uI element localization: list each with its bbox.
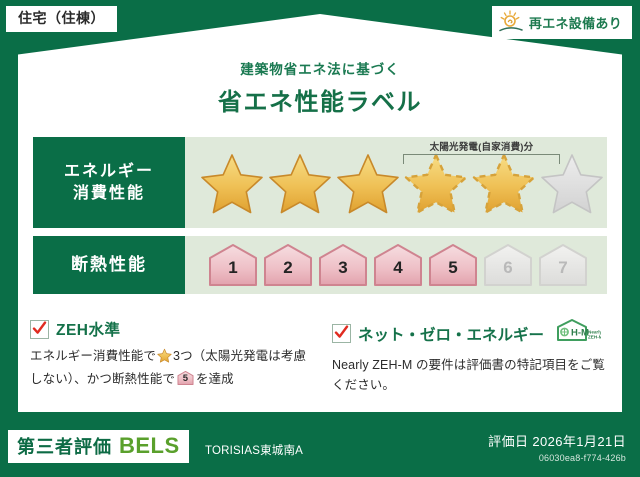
insulation-step-label-5: 5 — [427, 259, 479, 276]
star-filled-2 — [267, 151, 333, 215]
performance-rows: エネルギー 消費性能 太陽光発電(自家消費)分 — [33, 137, 607, 302]
energy-performance-row: エネルギー 消費性能 太陽光発電(自家消費)分 — [33, 137, 607, 228]
insulation-row-label: 断熱性能 — [33, 236, 185, 294]
insulation-step-7: 7 — [537, 242, 589, 288]
netzero-heading: ネット・ゼロ・エネルギー H-M Nearly ZEH-M — [332, 318, 610, 349]
house-inline-icon: 5 — [177, 370, 194, 386]
star-filled-solar-5 — [471, 151, 537, 215]
check-icon — [334, 325, 349, 340]
criteria-section: ZEH水準 エネルギー消費性能で3つ（太陽光発電は考慮しない）、かつ断熱性能で5… — [30, 318, 610, 396]
netzero-title: ネット・ゼロ・エネルギー — [358, 323, 544, 345]
star-filled-solar-4 — [403, 151, 469, 215]
star-filled-3 — [335, 151, 401, 215]
check-icon — [32, 321, 47, 336]
evaluation-info: 評価日 2026年1月21日 06030ea8-f774-426b — [488, 431, 626, 463]
insulation-step-label-6: 6 — [482, 259, 534, 276]
zeh-description: エネルギー消費性能で3つ（太陽光発電は考慮しない）、かつ断熱性能で5を達成 — [30, 346, 308, 390]
label-title: 省エネ性能ラベル — [0, 82, 640, 117]
house-inline-value: 5 — [177, 374, 194, 384]
energy-label-line1: エネルギー — [64, 161, 154, 183]
zeh-criteria-column: ZEH水準 エネルギー消費性能で3つ（太陽光発電は考慮しない）、かつ断熱性能で5… — [30, 318, 308, 396]
insulation-step-1: 1 — [207, 242, 259, 288]
bels-jp-label: 第三者評価 — [17, 433, 112, 459]
zeh-heading: ZEH水準 — [30, 318, 308, 340]
zeh-title: ZEH水準 — [56, 318, 121, 340]
building-type-text: 住宅（住棟） — [18, 10, 105, 26]
insulation-performance-row: 断熱性能 1 2 — [33, 236, 607, 294]
label-subtitle: 建築物省エネ法に基づく — [0, 58, 640, 78]
insulation-scale: 1 2 3 4 5 — [185, 242, 589, 288]
star-empty-6 — [539, 151, 605, 215]
insulation-label-text: 断熱性能 — [71, 254, 147, 277]
zeh-description-part1: エネルギー消費性能で — [30, 349, 156, 363]
svg-text:H-M: H-M — [571, 327, 589, 338]
insulation-step-label-7: 7 — [537, 259, 589, 276]
insulation-rating-panel: 1 2 3 4 5 — [185, 236, 607, 294]
renewable-badge-label: 再エネ設備あり — [529, 13, 622, 32]
bels-en-label: BELS — [119, 433, 180, 459]
zeh-checkbox — [30, 320, 49, 339]
insulation-step-5: 5 — [427, 242, 479, 288]
energy-star-rating — [185, 151, 605, 215]
building-type-chip: 住宅（住棟） — [6, 6, 117, 32]
netzero-criteria-column: ネット・ゼロ・エネルギー H-M Nearly ZEH-M Nearly ZEH… — [322, 318, 610, 396]
energy-row-label: エネルギー 消費性能 — [33, 137, 185, 228]
energy-rating-panel: 太陽光発電(自家消費)分 — [185, 137, 607, 228]
insulation-step-label-1: 1 — [207, 259, 259, 276]
netzero-description: Nearly ZEH-M の要件は評価書の特記項目をご覧ください。 — [332, 355, 610, 396]
label-title-block: 建築物省エネ法に基づく 省エネ性能ラベル — [0, 58, 640, 117]
sun-solar-icon — [498, 10, 524, 34]
insulation-step-2: 2 — [262, 242, 314, 288]
star-filled-1 — [199, 151, 265, 215]
evaluation-date: 評価日 2026年1月21日 — [488, 431, 626, 450]
netzero-checkbox — [332, 324, 351, 343]
zeh-m-logo-icon: H-M Nearly ZEH-M — [555, 318, 601, 349]
insulation-step-3: 3 — [317, 242, 369, 288]
insulation-step-6: 6 — [482, 242, 534, 288]
insulation-step-label-2: 2 — [262, 259, 314, 276]
zeh-description-part3: を達成 — [196, 372, 234, 386]
star-inline-icon — [157, 352, 172, 366]
insulation-step-label-4: 4 — [372, 259, 424, 276]
energy-label-line2: 消費性能 — [73, 183, 145, 205]
evaluation-uid: 06030ea8-f774-426b — [488, 453, 626, 463]
bels-badge: 第三者評価 BELS — [8, 430, 189, 463]
zeh-m-logo-sub2: ZEH-M — [588, 335, 601, 340]
renewable-equipment-badge: 再エネ設備あり — [492, 6, 632, 39]
energy-performance-label: 住宅（住棟） 再エネ設備あり 建築物省エネ法に基づく 省エネ性能ラベル — [0, 0, 640, 477]
label-footer: 第三者評価 BELS TORISIAS東城南A 評価日 2026年1月21日 0… — [0, 420, 640, 477]
insulation-step-4: 4 — [372, 242, 424, 288]
building-name: TORISIAS東城南A — [205, 442, 303, 458]
insulation-step-label-3: 3 — [317, 259, 369, 276]
